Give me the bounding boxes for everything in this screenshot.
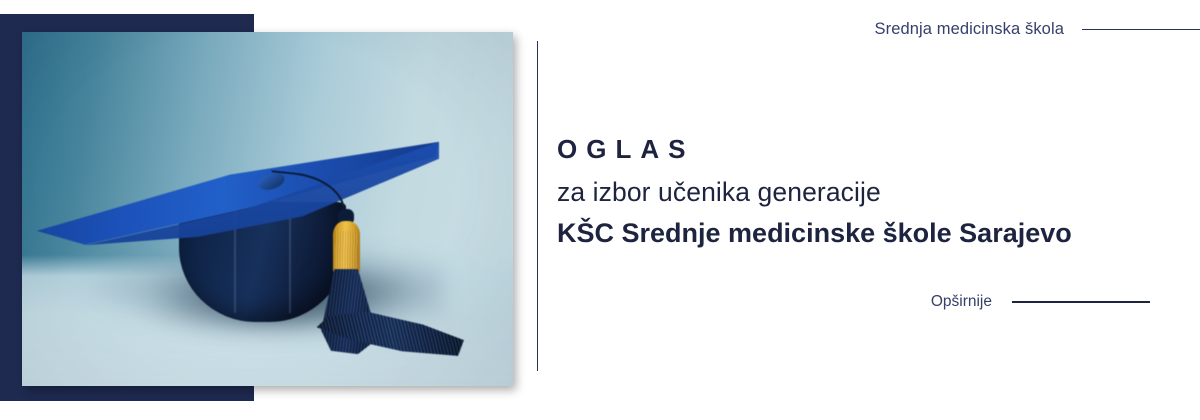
horizontal-rule-icon — [1012, 301, 1150, 303]
media-block — [0, 0, 540, 420]
eyebrow-label: Srednja medicinska škola — [875, 20, 1065, 39]
vertical-divider-line — [537, 41, 538, 371]
read-more-link[interactable]: Opširnije — [931, 293, 1150, 311]
headline-kicker: OGLAS — [557, 133, 1072, 166]
page-title: OGLAS za izbor učenika generacije KŠC Sr… — [557, 133, 1072, 254]
headline-subtitle: za izbor učenika generacije — [557, 173, 1072, 213]
oglas-banner: Srednja medicinska škola OGLAS za izbor … — [0, 0, 1200, 420]
graduation-cap-photo — [22, 32, 513, 386]
headline-school-name: KŠC Srednje medicinske škole Sarajevo — [557, 213, 1072, 254]
tassel-gold-band — [333, 221, 360, 274]
eyebrow: Srednja medicinska škola — [875, 20, 1200, 39]
horizontal-rule-icon — [1082, 29, 1200, 30]
read-more-label[interactable]: Opširnije — [931, 293, 992, 311]
